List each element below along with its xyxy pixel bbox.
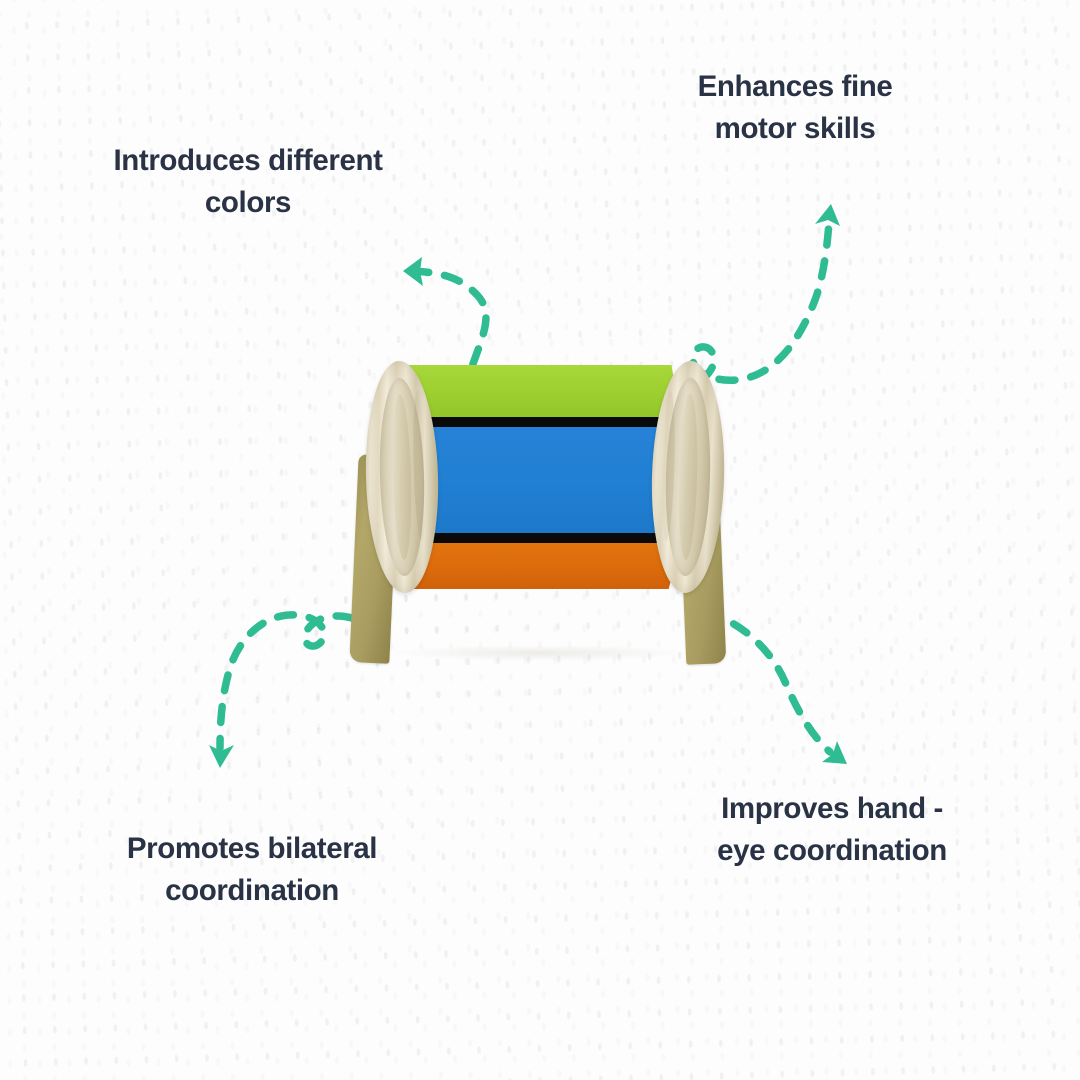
drum-body: [398, 365, 680, 589]
ring-core-left: [391, 394, 413, 560]
product-shadow: [390, 645, 690, 661]
callout-improves-hand-eye-coordination: Improves hand - eye coordination: [672, 788, 992, 872]
product-image-wooden-rolling-drum: [330, 345, 750, 675]
callout-introduces-different-colors: Introduces different colors: [62, 140, 434, 224]
panel-orange: [398, 543, 680, 589]
callout-enhances-fine-motor-skills: Enhances fine motor skills: [630, 66, 960, 150]
callout-promotes-bilateral-coordination: Promotes bilateral coordination: [72, 828, 432, 912]
ring-core-right: [677, 394, 699, 560]
panel-blue: [398, 427, 680, 537]
infographic-canvas: .dash { fill: none; stroke: #2fbc92; str…: [0, 0, 1080, 1080]
panel-green: [398, 365, 680, 417]
